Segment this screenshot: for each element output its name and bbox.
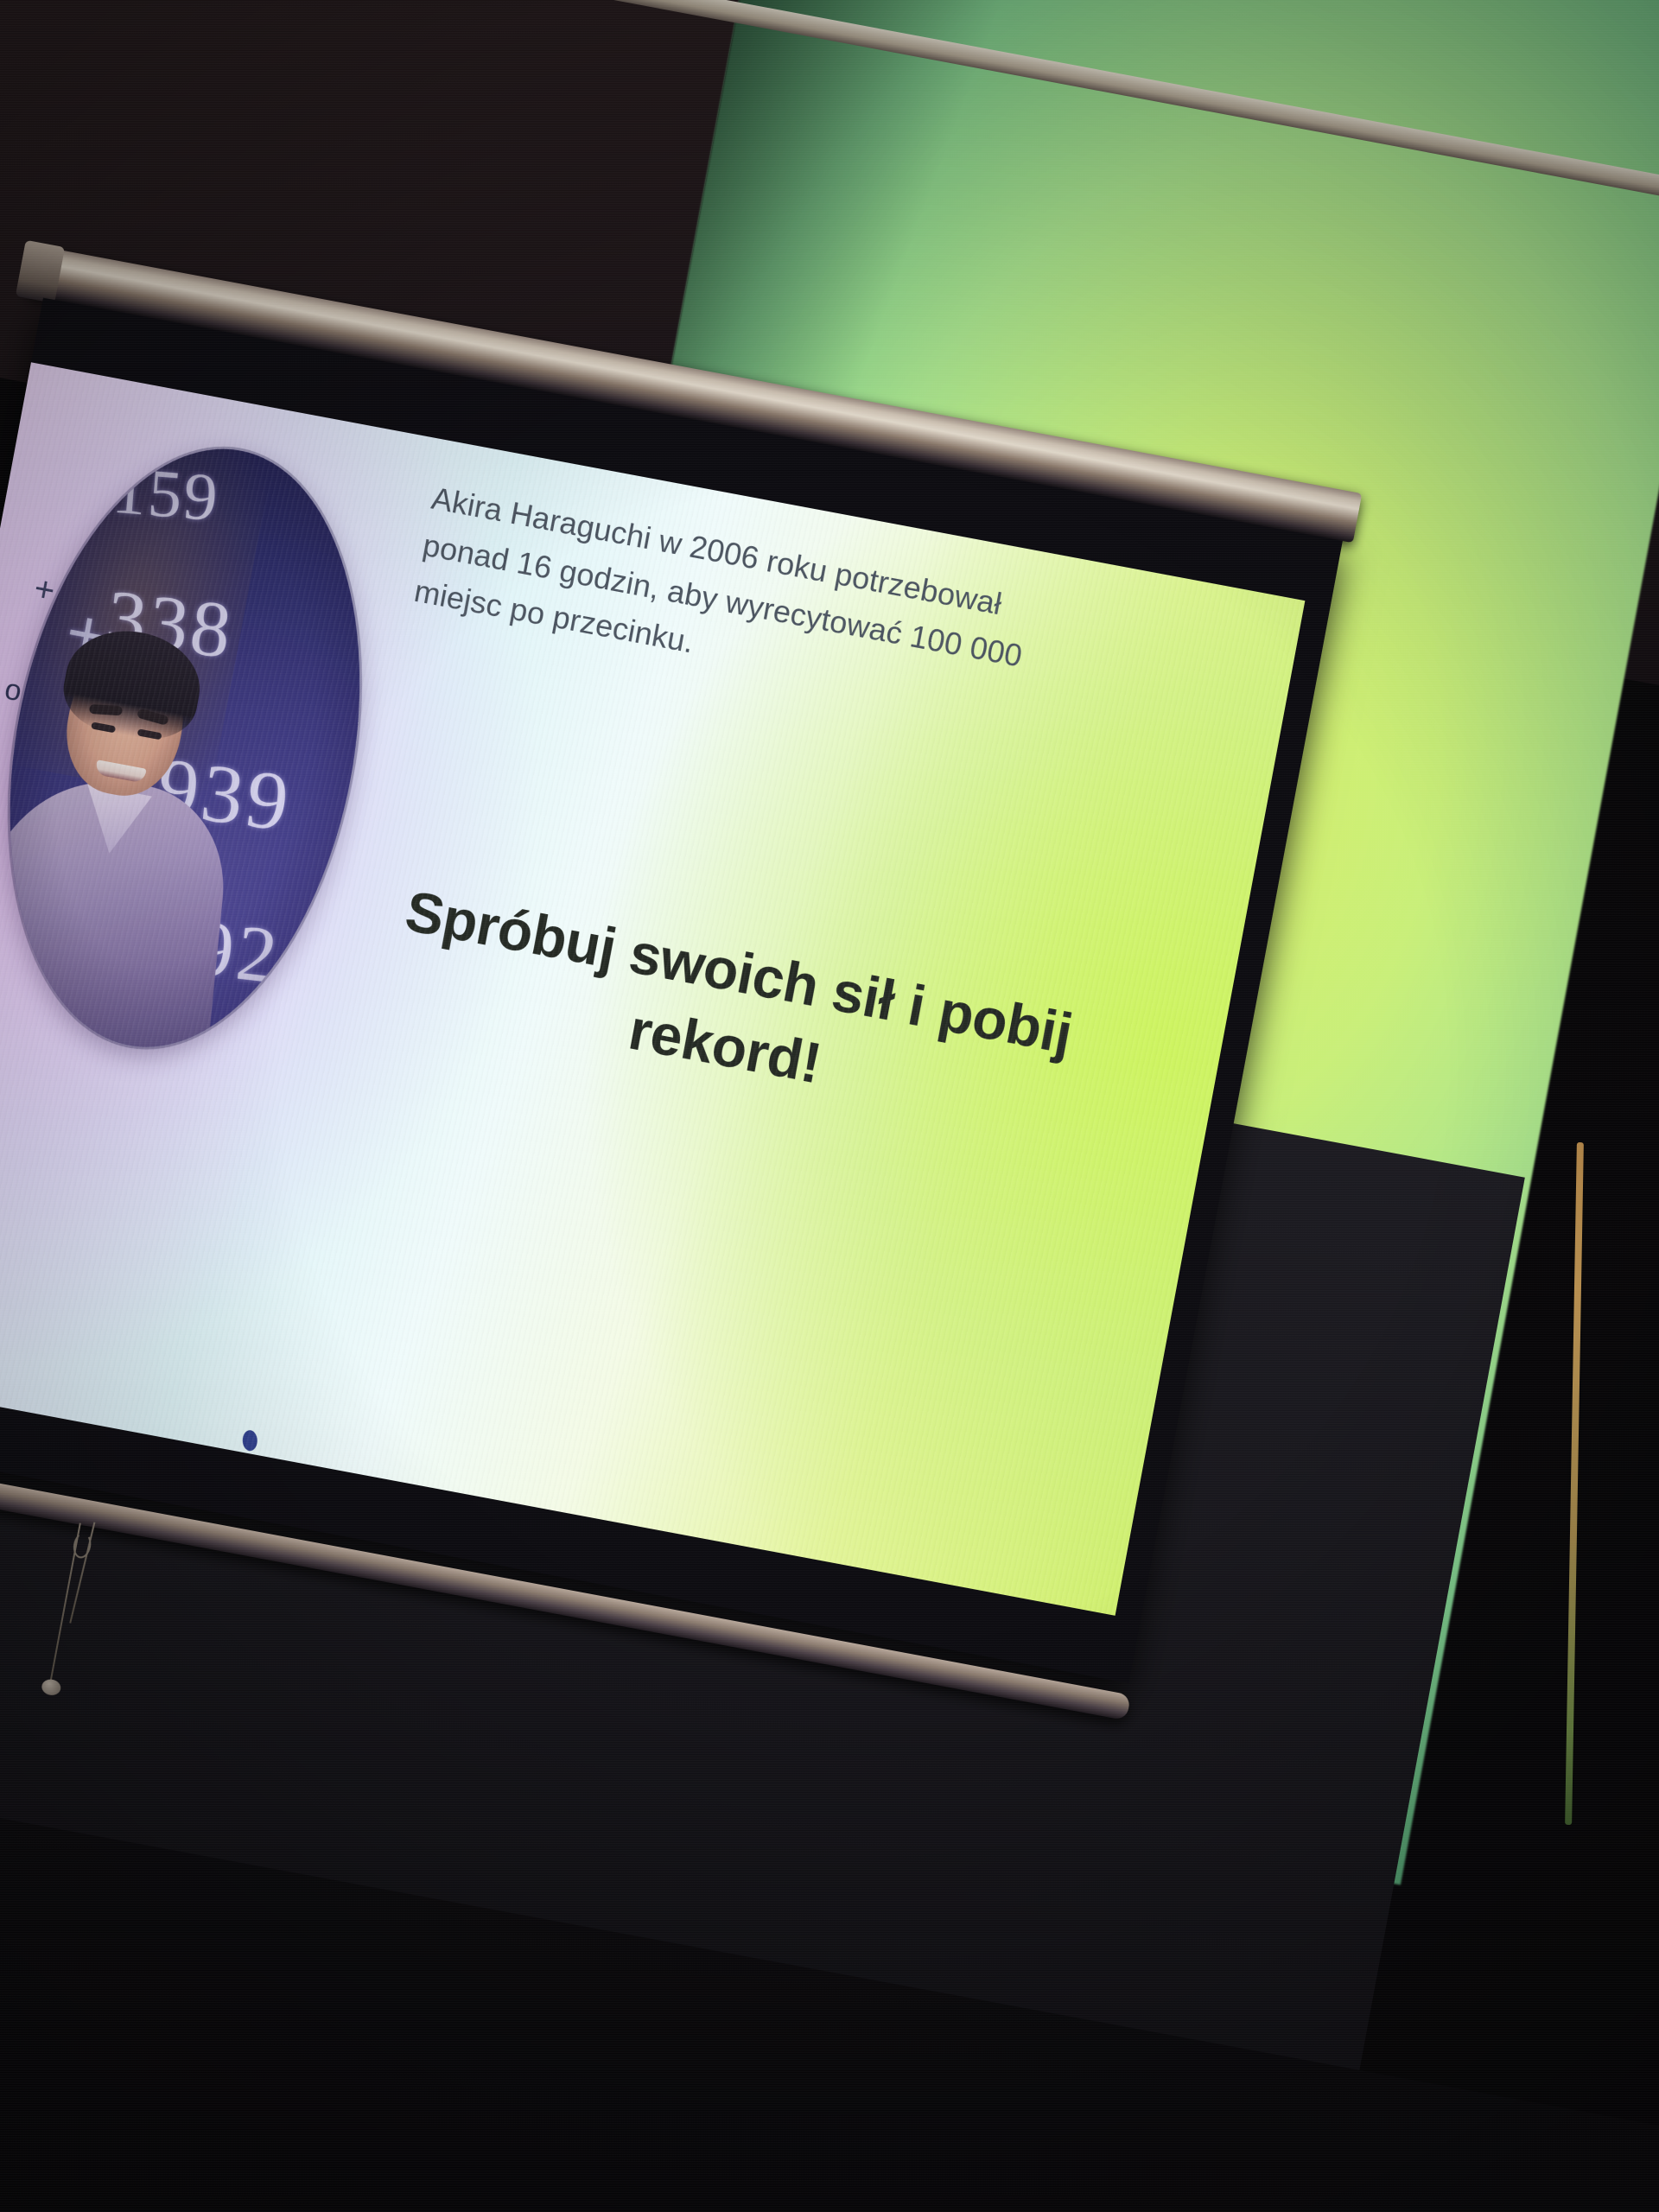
dot-decoration-icon (242, 1430, 257, 1451)
slide-headline: Spróbuj swoich sił i pobij rekord! (289, 855, 1175, 1164)
circle-mark-icon: o (3, 675, 24, 707)
lecture-room-photo: + o 1159 + 338 6939 + 4592 (0, 0, 1659, 2212)
wall-pointer-stick (1565, 1142, 1584, 1825)
